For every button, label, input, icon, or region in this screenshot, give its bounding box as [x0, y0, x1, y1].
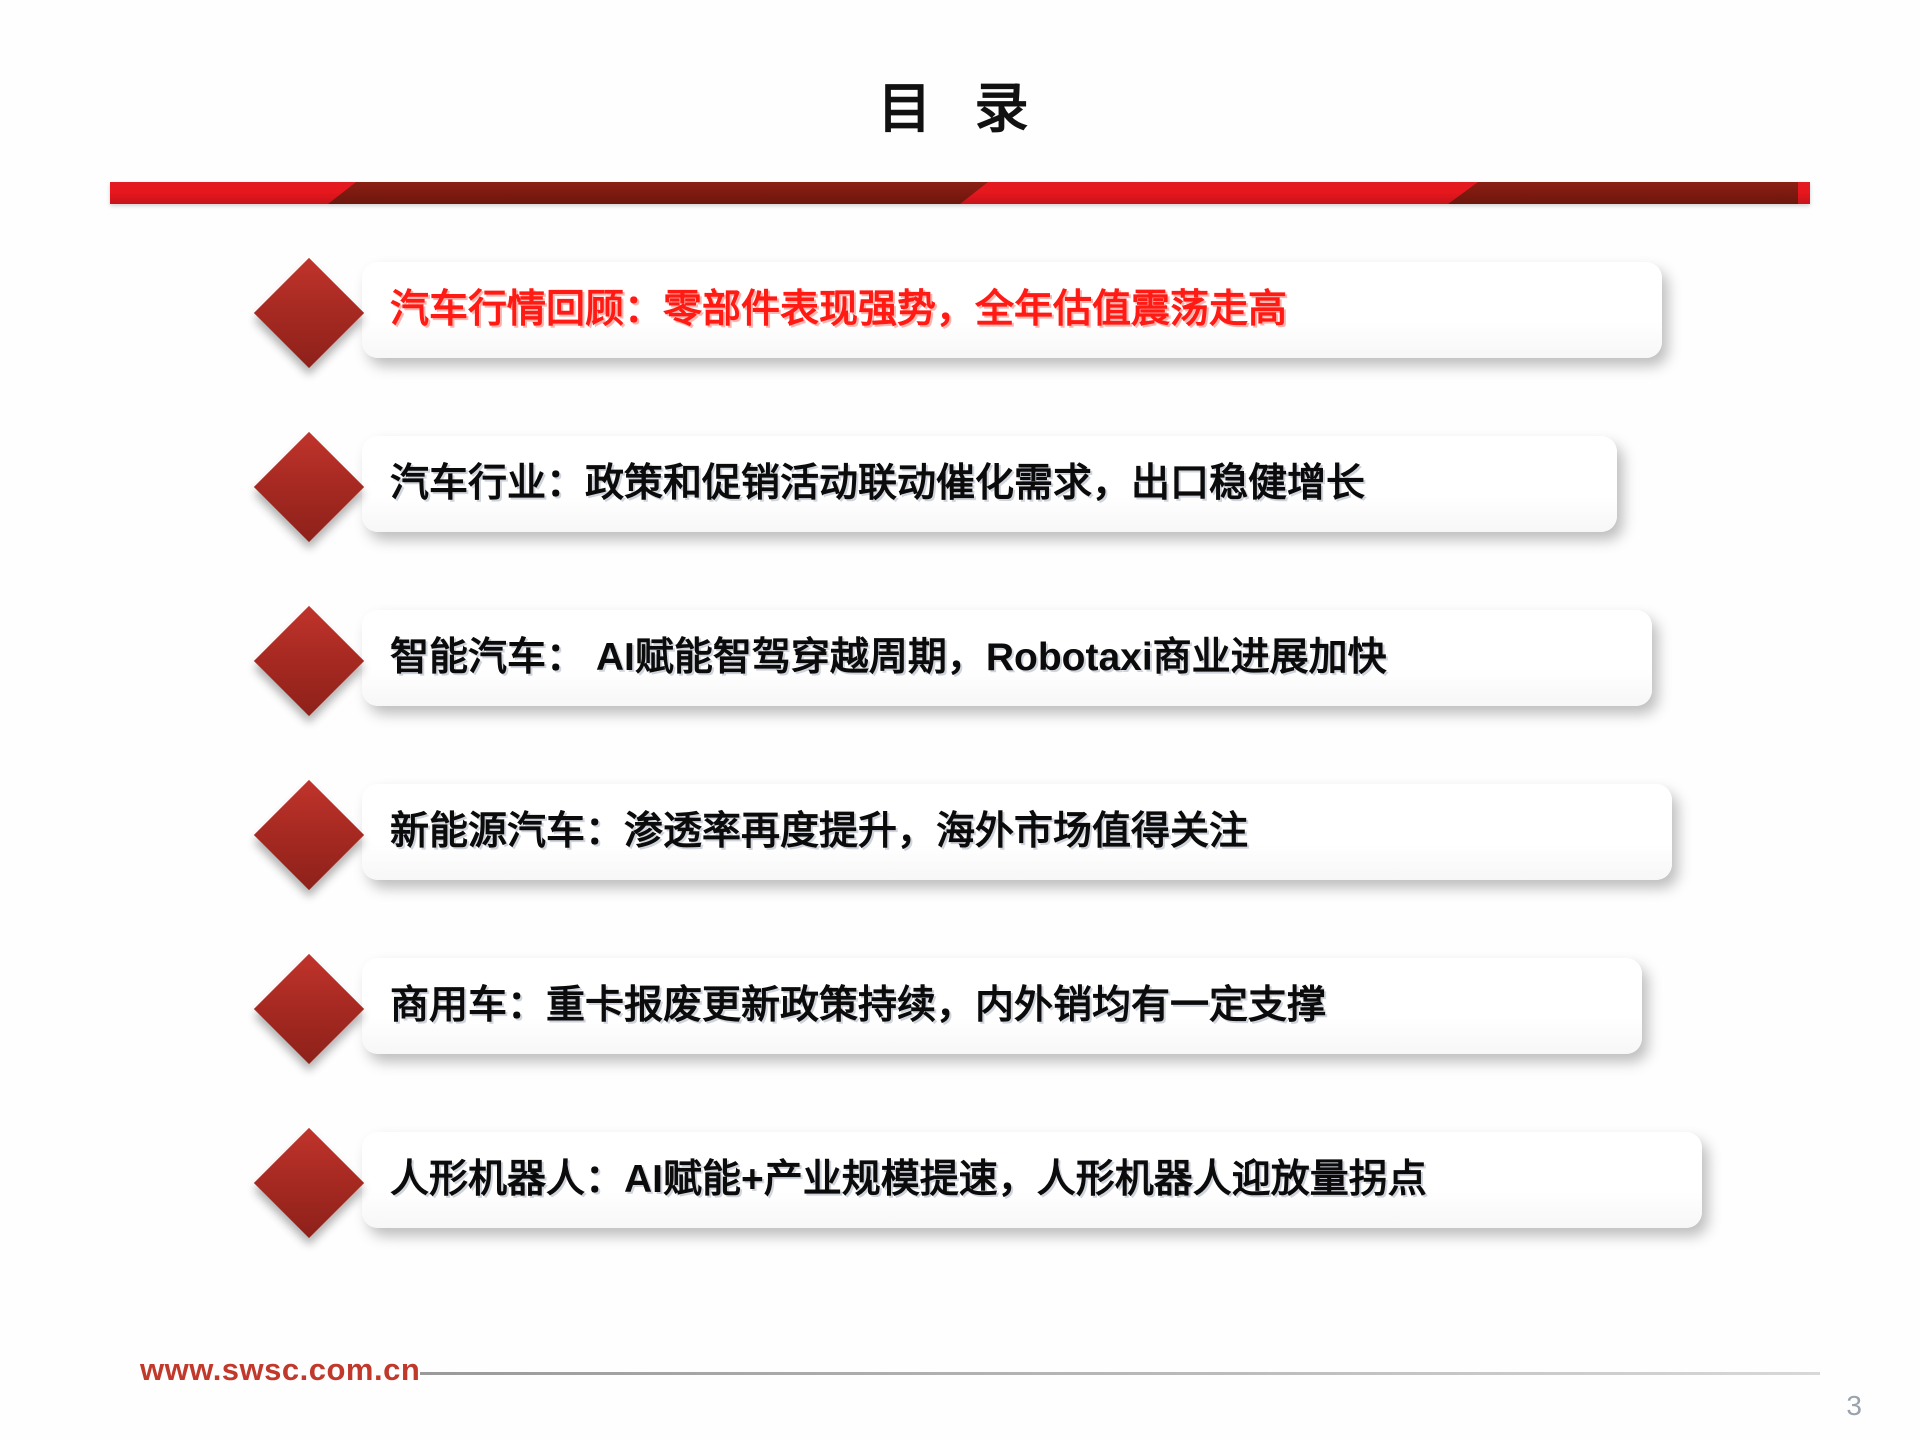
- header-banner-bar: [110, 182, 1810, 204]
- footer-website-url[interactable]: www.swsc.com.cn: [140, 1352, 420, 1388]
- contents-item-label: 商用车：重卡报废更新政策持续，内外销均有一定支撑: [362, 984, 1350, 1029]
- diamond-bullet-icon: [254, 1128, 364, 1238]
- banner-segment-right: [1448, 182, 1798, 204]
- list-item[interactable]: 商用车：重卡报废更新政策持续，内外销均有一定支撑: [0, 958, 1920, 1068]
- list-item[interactable]: 汽车行业：政策和促销活动联动催化需求，出口稳健增长: [0, 436, 1920, 546]
- page-number: 3: [1846, 1390, 1862, 1422]
- contents-item-plate[interactable]: 汽车行情回顾：零部件表现强势，全年估值震荡走高: [362, 262, 1662, 358]
- contents-item-plate[interactable]: 汽车行业：政策和促销活动联动催化需求，出口稳健增长: [362, 436, 1617, 532]
- slide-root: 目 录 汽车行情回顾：零部件表现强势，全年估值震荡走高 汽车行业：政策和促销活动…: [0, 0, 1920, 1440]
- contents-item-label: 智能汽车： AI赋能智驾穿越周期，Robotaxi商业进展加快: [362, 636, 1411, 681]
- contents-item-plate[interactable]: 智能汽车： AI赋能智驾穿越周期，Robotaxi商业进展加快: [362, 610, 1652, 706]
- footer-divider: [420, 1372, 1820, 1375]
- diamond-bullet-icon: [254, 780, 364, 890]
- contents-item-plate[interactable]: 新能源汽车：渗透率再度提升，海外市场值得关注: [362, 784, 1672, 880]
- page-title: 目 录: [877, 82, 1042, 136]
- contents-item-label: 人形机器人：AI赋能+产业规模提速，人形机器人迎放量拐点: [362, 1158, 1451, 1203]
- contents-item-plate[interactable]: 人形机器人：AI赋能+产业规模提速，人形机器人迎放量拐点: [362, 1132, 1702, 1228]
- contents-item-label: 汽车行业：政策和促销活动联动催化需求，出口稳健增长: [362, 462, 1389, 507]
- title-container: 目 录: [0, 82, 1920, 136]
- contents-item-label: 汽车行情回顾：零部件表现强势，全年估值震荡走高: [362, 288, 1311, 333]
- contents-list: 汽车行情回顾：零部件表现强势，全年估值震荡走高 汽车行业：政策和促销活动联动催化…: [0, 262, 1920, 1306]
- diamond-bullet-icon: [254, 606, 364, 716]
- diamond-bullet-icon: [254, 954, 364, 1064]
- slide-footer: www.swsc.com.cn 3: [0, 1300, 1920, 1440]
- contents-item-plate[interactable]: 商用车：重卡报废更新政策持续，内外销均有一定支撑: [362, 958, 1642, 1054]
- list-item[interactable]: 新能源汽车：渗透率再度提升，海外市场值得关注: [0, 784, 1920, 894]
- list-item[interactable]: 智能汽车： AI赋能智驾穿越周期，Robotaxi商业进展加快: [0, 610, 1920, 720]
- diamond-bullet-icon: [254, 432, 364, 542]
- list-item[interactable]: 汽车行情回顾：零部件表现强势，全年估值震荡走高: [0, 262, 1920, 372]
- banner-segment-left: [328, 182, 988, 204]
- contents-item-label: 新能源汽车：渗透率再度提升，海外市场值得关注: [362, 810, 1272, 855]
- diamond-bullet-icon: [254, 258, 364, 368]
- list-item[interactable]: 人形机器人：AI赋能+产业规模提速，人形机器人迎放量拐点: [0, 1132, 1920, 1242]
